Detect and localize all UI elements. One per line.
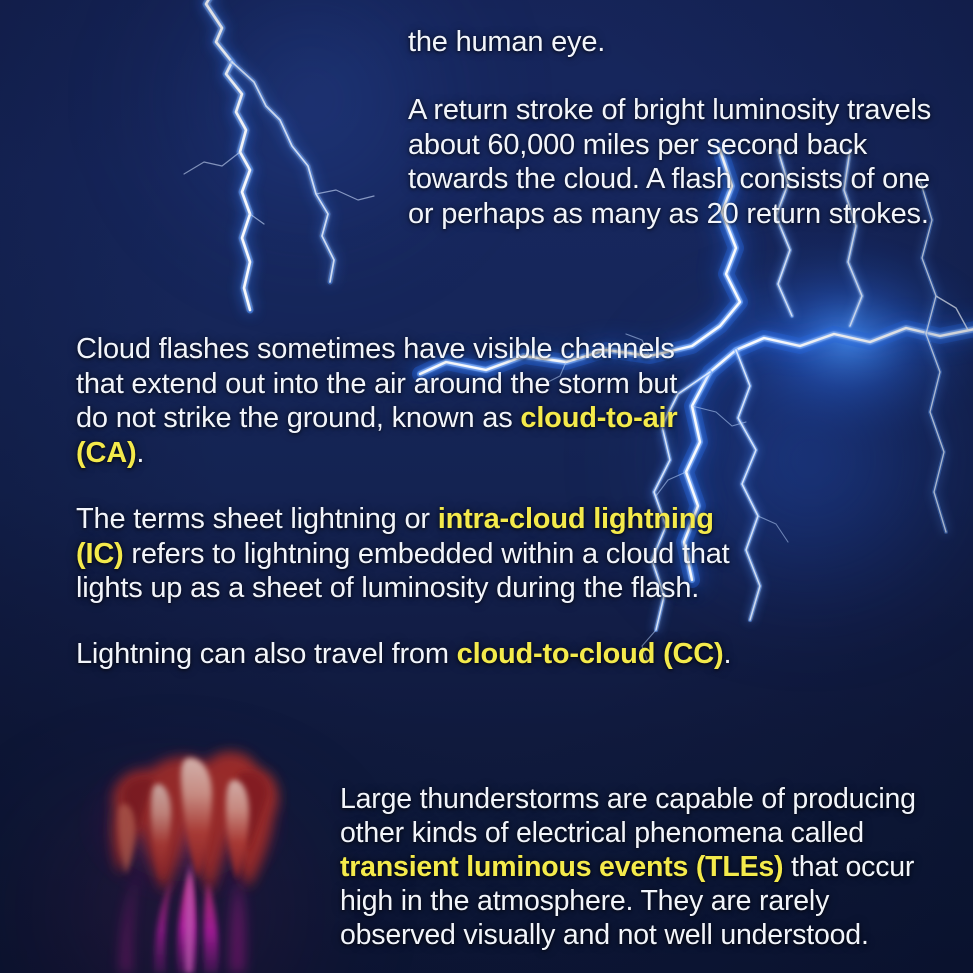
highlighted-term: cloud-to-cloud (CC) — [457, 638, 724, 670]
body-text: . — [136, 437, 144, 469]
paragraph-cloud-to-air: Cloud flashes sometimes have visible cha… — [76, 332, 716, 470]
red-sprites-photo — [62, 722, 324, 973]
body-text: A return stroke of bright luminosity tra… — [408, 94, 931, 230]
paragraph-transient-luminous-events: Large thunderstorms are capable of produ… — [340, 782, 930, 952]
infographic-page: the human eye. A return stroke of bright… — [0, 0, 973, 973]
paragraph-intra-cloud: The terms sheet lightning or intra-cloud… — [76, 502, 741, 606]
lightning-edge-strands — [880, 180, 973, 660]
body-text: refers to lightning embedded within a cl… — [76, 538, 730, 605]
body-text: . — [723, 638, 731, 670]
highlighted-term: transient luminous events (TLEs) — [340, 851, 783, 883]
body-text: Large thunderstorms are capable of produ… — [340, 783, 916, 849]
body-text: The terms sheet lightning or — [76, 503, 438, 535]
paragraph-human-eye: the human eye. — [408, 25, 953, 60]
paragraph-return-stroke: A return stroke of bright luminosity tra… — [408, 93, 953, 231]
body-text: Lightning can also travel from — [76, 638, 457, 670]
paragraph-cloud-to-cloud: Lightning can also travel from cloud-to-… — [76, 637, 741, 672]
lightning-left-bolt — [150, 0, 450, 310]
body-text: the human eye. — [408, 26, 605, 58]
